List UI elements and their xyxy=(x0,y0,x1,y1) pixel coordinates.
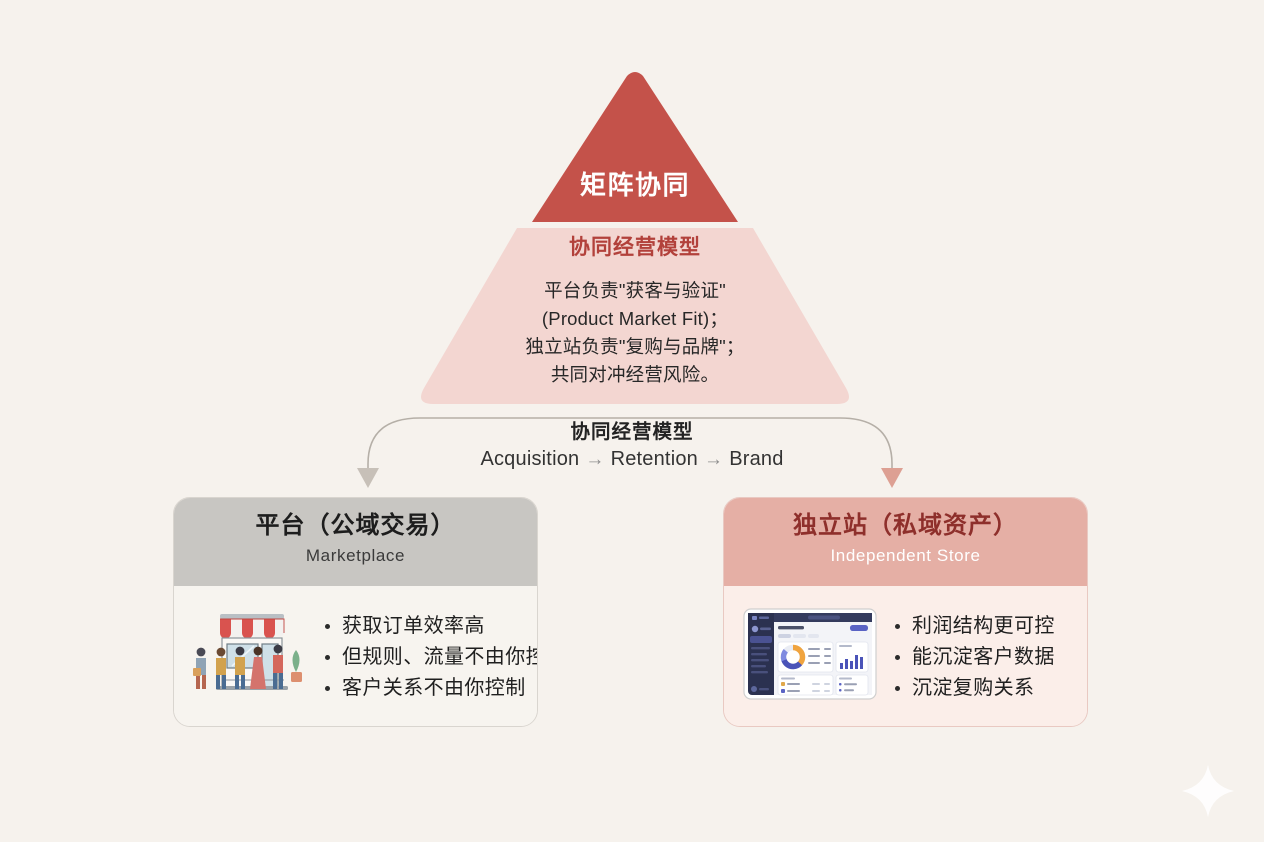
card-marketplace-subtitle: Marketplace xyxy=(174,546,537,566)
card-marketplace-body: 获取订单效率高 但规则、流量不由你控制 客户关系不由你控制 xyxy=(174,586,537,727)
list-item: 沉淀复购关系 xyxy=(894,673,1073,704)
pyramid-sub-title: 协同经营模型 xyxy=(405,237,865,258)
pyramid-body-line-1: 平台负责"获客与验证" xyxy=(405,277,865,305)
card-marketplace[interactable]: 平台（公域交易） Marketplace xyxy=(173,497,538,727)
stage-brand: Brand xyxy=(729,448,783,470)
card-independent-store-header: 独立站（私域资产） Independent Store xyxy=(724,498,1087,586)
list-item: 能沉淀客户数据 xyxy=(894,642,1073,673)
left-arrowhead-icon xyxy=(357,468,379,488)
card-independent-store-subtitle: Independent Store xyxy=(724,546,1087,566)
card-marketplace-header: 平台（公域交易） Marketplace xyxy=(174,498,537,586)
dashboard-icon xyxy=(742,605,878,709)
flow-label-cn: 协同经营模型 xyxy=(0,415,1264,444)
list-item: 获取订单效率高 xyxy=(324,611,538,642)
flow-label-stages: Acquisition→Retention→Brand xyxy=(0,448,1264,471)
pyramid-body-line-3: 独立站负责"复购与品牌"； xyxy=(405,333,865,361)
stage-acquisition: Acquisition xyxy=(480,448,579,470)
stage-arrow-1-icon: → xyxy=(579,449,610,470)
list-item: 利润结构更可控 xyxy=(894,611,1073,642)
sparkle-icon xyxy=(1179,762,1237,820)
pyramid-body-line-4: 共同对冲经营风险。 xyxy=(405,361,865,389)
card-independent-store-title: 独立站（私域资产） xyxy=(724,511,1087,541)
pyramid-graphic: 矩阵协同 协同经营模型 平台负责"获客与验证" (Product Market … xyxy=(405,70,865,405)
flow-connectors xyxy=(330,396,930,496)
list-item: 客户关系不由你控制 xyxy=(324,673,538,704)
card-independent-store-bullets: 利润结构更可控 能沉淀客户数据 沉淀复购关系 xyxy=(878,611,1073,704)
card-independent-store-body: 利润结构更可控 能沉淀客户数据 沉淀复购关系 xyxy=(724,586,1087,727)
pyramid-body-text: 平台负责"获客与验证" (Product Market Fit)； 独立站负责"… xyxy=(405,277,865,389)
diagram-canvas: 矩阵协同 协同经营模型 平台负责"获客与验证" (Product Market … xyxy=(0,0,1264,842)
pyramid-body-line-2: (Product Market Fit)； xyxy=(405,305,865,333)
stage-arrow-2-icon: → xyxy=(698,449,729,470)
list-item: 但规则、流量不由你控制 xyxy=(324,642,538,673)
storefront-icon xyxy=(192,602,312,712)
card-marketplace-title: 平台（公域交易） xyxy=(174,511,537,541)
card-marketplace-bullets: 获取订单效率高 但规则、流量不由你控制 客户关系不由你控制 xyxy=(312,611,538,704)
card-independent-store[interactable]: 独立站（私域资产） Independent Store xyxy=(723,497,1088,727)
stage-retention: Retention xyxy=(611,448,698,470)
pyramid-top-label: 矩阵协同 xyxy=(405,172,865,198)
right-arrowhead-icon xyxy=(881,468,903,488)
